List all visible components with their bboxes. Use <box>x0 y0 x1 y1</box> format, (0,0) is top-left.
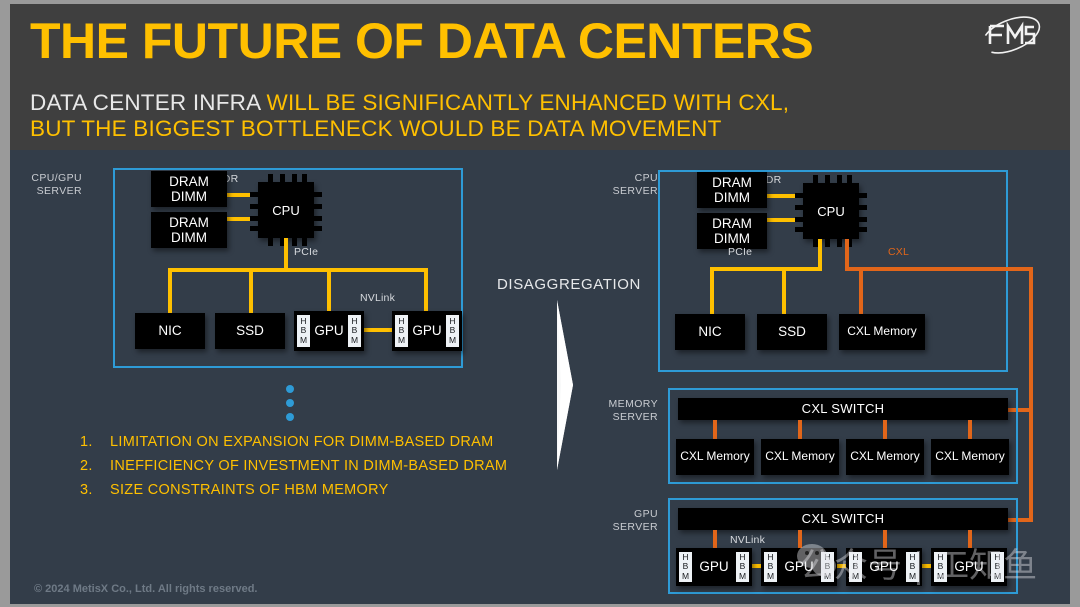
right-cpu-group-label: CPU SERVER <box>590 172 658 198</box>
right-cxl-label: CXL <box>888 246 909 258</box>
right-cpu-chip: CPU <box>803 183 859 239</box>
gpu1-hbm-right: HBM <box>736 552 749 582</box>
right-dram-dimm-2: DRAM DIMM <box>697 213 767 249</box>
subtitle-rest: WILL BE SIGNIFICANTLY ENHANCED WITH CXL, <box>267 90 790 115</box>
left-gpu2-hbm-left: HBM <box>395 315 408 347</box>
left-dram-dimm-1: DRAM DIMM <box>151 171 227 207</box>
left-pcie-drop-gpu1 <box>327 268 331 314</box>
mem-link-4 <box>968 420 972 440</box>
gpu-cxl-switch: CXL SWITCH <box>678 508 1008 530</box>
right-pcie-drop-nic <box>710 267 714 315</box>
gpu-group-label: GPU SERVER <box>590 508 658 534</box>
mem-link-2 <box>798 420 802 440</box>
left-nvlink-label: NVLink <box>360 292 395 304</box>
right-pcie-bus <box>710 267 822 271</box>
list-item: 2. INEFFICIENCY OF INVESTMENT IN DIMM-BA… <box>80 454 507 478</box>
gpu4-hbm-left: HBM <box>934 552 947 582</box>
gpu-link-1 <box>713 530 717 550</box>
memory-group-label: MEMORY SERVER <box>590 398 658 424</box>
right-pcie-drop-ssd <box>782 267 786 315</box>
ellipsis-dot-1 <box>286 385 294 393</box>
gpu-link-4 <box>968 530 972 550</box>
left-pcie-drop-ssd <box>249 268 253 314</box>
right-pcie-label: PCIe <box>728 246 752 258</box>
right-cxl-stem <box>845 239 849 269</box>
ellipsis-dot-3 <box>286 413 294 421</box>
mem-link-1 <box>713 420 717 440</box>
mem-link-3 <box>883 420 887 440</box>
slide-edge-left <box>0 0 10 607</box>
slide-root: THE FUTURE OF DATA CENTERS DATA CENTER I… <box>0 0 1080 607</box>
memory-module-2: CXL Memory <box>761 439 839 475</box>
subtitle-line2: BUT THE BIGGEST BOTTLENECK WOULD BE DATA… <box>30 116 789 142</box>
left-pcie-drop-nic <box>168 268 172 314</box>
page-subtitle: DATA CENTER INFRA WILL BE SIGNIFICANTLY … <box>30 90 789 142</box>
left-gpu1-hbm-left: HBM <box>297 315 310 347</box>
memory-module-3: CXL Memory <box>846 439 924 475</box>
right-dram-dimm-1: DRAM DIMM <box>697 172 767 208</box>
left-pcie-stem <box>284 238 288 270</box>
left-pcie-bus <box>168 268 428 272</box>
left-cpu-chip: CPU <box>258 182 314 238</box>
right-nic-block: NIC <box>675 314 745 350</box>
list-item: 1. LIMITATION ON EXPANSION FOR DIMM-BASE… <box>80 430 507 454</box>
left-dram-dimm-2: DRAM DIMM <box>151 212 227 248</box>
slide-body: CPU/GPU SERVER DDR DRAM DIMM DRAM DIMM C… <box>10 150 1070 604</box>
page-title: THE FUTURE OF DATA CENTERS <box>30 12 813 70</box>
left-nic-block: NIC <box>135 313 205 349</box>
left-pcie-drop-gpu2 <box>424 268 428 314</box>
right-cxl-drop-mem <box>859 267 863 315</box>
slide-edge-right <box>1070 0 1080 607</box>
gpu1-hbm-left: HBM <box>679 552 692 582</box>
gpu3-hbm-right: HBM <box>906 552 919 582</box>
disaggregation-arrow-icon <box>555 300 585 470</box>
cxl-main-vertical-bus <box>1029 267 1033 522</box>
subtitle-lead: DATA CENTER INFRA <box>30 90 267 115</box>
gpu-link-3 <box>883 530 887 550</box>
gpu-nvlink-label: NVLink <box>730 534 765 546</box>
disaggregation-label: DISAGGREGATION <box>497 276 641 293</box>
left-ssd-block: SSD <box>215 313 285 349</box>
gpu2-hbm-left: HBM <box>764 552 777 582</box>
right-ssd-block: SSD <box>757 314 827 350</box>
gpu3-hbm-left: HBM <box>849 552 862 582</box>
memory-module-1: CXL Memory <box>676 439 754 475</box>
right-pcie-stem <box>818 239 822 269</box>
left-gpu1-hbm-right: HBM <box>348 315 361 347</box>
left-pcie-label: PCIe <box>294 246 318 258</box>
memory-cxl-switch: CXL SWITCH <box>678 398 1008 420</box>
issues-list: 1. LIMITATION ON EXPANSION FOR DIMM-BASE… <box>80 430 507 502</box>
left-group-label: CPU/GPU SERVER <box>14 172 82 198</box>
right-cxl-bus-top <box>845 267 1033 271</box>
copyright-footer: © 2024 MetisX Co., Ltd. All rights reser… <box>34 583 258 595</box>
list-item: 3. SIZE CONSTRAINTS OF HBM MEMORY <box>80 478 507 502</box>
right-cxl-memory-block: CXL Memory <box>839 314 925 350</box>
fms-logo-icon <box>976 10 1046 60</box>
gpu4-hbm-right: HBM <box>991 552 1004 582</box>
ellipsis-dot-2 <box>286 399 294 407</box>
memory-module-4: CXL Memory <box>931 439 1009 475</box>
wechat-watermark-icon <box>795 542 837 578</box>
left-gpu2-hbm-right: HBM <box>446 315 459 347</box>
slide-header: THE FUTURE OF DATA CENTERS DATA CENTER I… <box>10 4 1070 150</box>
